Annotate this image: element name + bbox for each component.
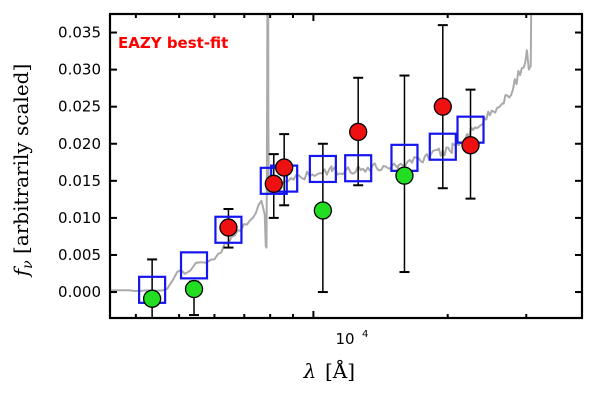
observed-photometry-point [396, 167, 413, 184]
svg-text:fν [arbitrarily scaled]: fν [arbitrarily scaled] [9, 64, 36, 279]
y-axis-title: fν [arbitrarily scaled] [9, 64, 36, 279]
observed-photometry-point [265, 175, 282, 192]
x-tick-label-1e4: 10 4 [335, 329, 368, 348]
observed-photometry-point [462, 137, 479, 154]
eazy-best-fit-annotation: EAZY best-fit [118, 34, 228, 52]
y-tick-label: 0.025 [58, 98, 101, 116]
y-tick-label: 0.010 [58, 209, 101, 227]
observed-photometry-point [144, 290, 161, 307]
y-tick-label: 0.000 [58, 283, 101, 301]
observed-photometry-point [314, 202, 331, 219]
y-tick-label: 0.035 [58, 24, 101, 42]
y-tick-label: 0.015 [58, 172, 101, 190]
x-tick-exponent: 4 [362, 329, 368, 340]
x-axis-title-unit: [Å] [325, 358, 355, 383]
x-axis-title-lambda: λ [303, 359, 317, 383]
observed-photometry-point [186, 281, 203, 298]
observed-photometry-point [434, 98, 451, 115]
observed-photometry-point [276, 159, 293, 176]
observed-photometry-point [220, 219, 237, 236]
x-axis-title: λ [Å] [303, 358, 355, 383]
y-tick-label: 0.005 [58, 246, 101, 264]
y-tick-label: 0.020 [58, 135, 101, 153]
y-tick-label: 0.030 [58, 61, 101, 79]
y-axis-title-rest: [arbitrarily scaled] [9, 64, 33, 261]
figure-canvas: 0.0000.0050.0100.0150.0200.0250.0300.035… [0, 0, 600, 400]
observed-photometry-point [350, 123, 367, 140]
y-tick-labels: 0.0000.0050.0100.0150.0200.0250.0300.035 [58, 24, 101, 302]
x-tick-mantissa: 10 [335, 330, 354, 348]
plot-svg: 0.0000.0050.0100.0150.0200.0250.0300.035… [0, 0, 600, 400]
